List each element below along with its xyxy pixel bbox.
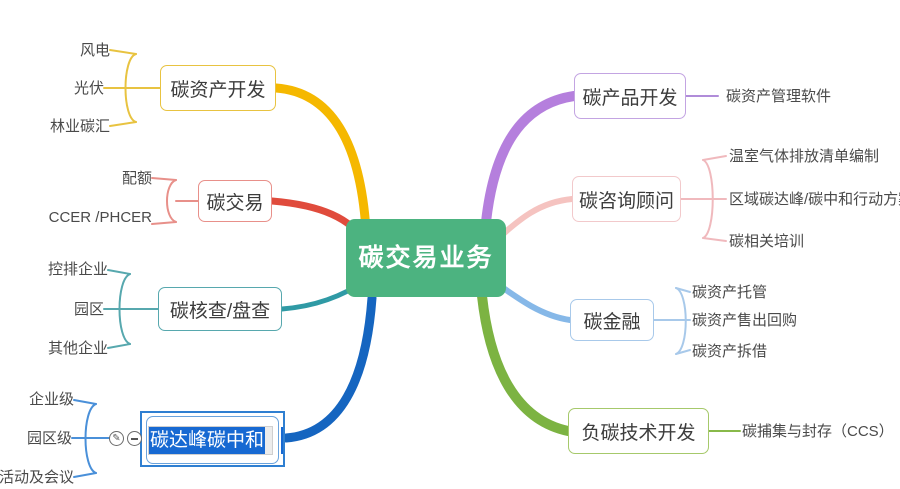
- node-label: 碳交易: [207, 188, 264, 215]
- node-carbon-asset-development[interactable]: 碳资产开发: [160, 65, 276, 111]
- node-label: 碳咨询顾问: [579, 186, 674, 213]
- node-carbon-consulting[interactable]: 碳咨询顾问: [572, 176, 681, 222]
- node-label: 碳核查/盘查: [170, 296, 270, 323]
- collapse-minus-icon[interactable]: [127, 431, 142, 446]
- brace-carbon-verification: [120, 274, 131, 344]
- leaf-carbon-verification-1[interactable]: 园区: [74, 302, 104, 317]
- node-carbon-trading[interactable]: 碳交易: [198, 180, 272, 222]
- note-icon[interactable]: ✎: [109, 431, 124, 446]
- stub-leaf-kongpai: [108, 270, 130, 274]
- leaf-carbon-consulting-1[interactable]: 区域碳达峰/碳中和行动方案: [729, 192, 900, 207]
- leaf-carbon-finance-2[interactable]: 碳资产拆借: [692, 344, 767, 359]
- node-label: 负碳技术开发: [581, 418, 695, 445]
- stub-leaf-ccer: [152, 222, 176, 224]
- brace-carbon-asset-development: [126, 54, 137, 122]
- trunk-carbon-product-development: [486, 96, 574, 222]
- brace-carbon-finance: [676, 288, 686, 354]
- stub-leaf-qiyeji: [74, 400, 96, 404]
- node-label: 碳产品开发: [583, 83, 678, 110]
- brace-carbon-peak-neutrality: [86, 404, 97, 473]
- node-carbon-verification[interactable]: 碳核查/盘查: [158, 287, 282, 331]
- trunk-carbon-asset-development: [276, 88, 366, 230]
- leaf-carbon-peak-neutrality-2[interactable]: 大型活动及会议: [0, 470, 74, 485]
- leaf-carbon-peak-neutrality-1[interactable]: 园区级: [27, 431, 72, 446]
- leaf-carbon-peak-neutrality-0[interactable]: 企业级: [29, 392, 74, 407]
- stub-leaf-fengdian: [110, 50, 136, 54]
- text-caret: [281, 427, 283, 454]
- stub-leaf-linye: [110, 122, 136, 126]
- leaf-carbon-consulting-2[interactable]: 碳相关培训: [729, 234, 804, 249]
- trunk-carbon-peak-neutrality: [286, 298, 372, 438]
- leaf-carbon-verification-2[interactable]: 其他企业: [48, 341, 108, 356]
- center-node[interactable]: 碳交易业务: [346, 219, 506, 297]
- node-label: 碳金融: [583, 307, 640, 334]
- leaf-carbon-trading-0[interactable]: 配额: [122, 171, 152, 186]
- leaf-carbon-finance-1[interactable]: 碳资产售出回购: [692, 313, 797, 328]
- minus-bar: [131, 438, 138, 440]
- leaf-negative-carbon-tech-0[interactable]: 碳捕集与封存（CCS）: [742, 424, 894, 439]
- leaf-carbon-asset-development-2[interactable]: 林业碳汇: [50, 119, 110, 134]
- stub-leaf-asset-custody: [676, 288, 690, 292]
- stub-leaf-peie: [152, 178, 176, 180]
- stub-leaf-asset-lending: [676, 350, 690, 354]
- stub-leaf-training: [703, 238, 726, 241]
- node-carbon-peak-neutrality-editing[interactable]: 碳达峰碳中和: [140, 411, 285, 467]
- trunk-negative-carbon-tech: [482, 296, 568, 431]
- leaf-carbon-consulting-0[interactable]: 温室气体排放清单编制: [729, 149, 879, 164]
- stub-leaf-ghg-inventory: [703, 156, 726, 160]
- leaf-carbon-finance-0[interactable]: 碳资产托管: [692, 285, 767, 300]
- leaf-carbon-product-development-0[interactable]: 碳资产管理软件: [726, 89, 831, 104]
- brace-carbon-consulting: [703, 160, 713, 238]
- leaf-carbon-verification-0[interactable]: 控排企业: [48, 262, 108, 277]
- mindmap-canvas: 碳交易业务 碳资产开发 碳交易 碳核查/盘查 碳达峰碳中和 ✎ 碳产品开发 碳咨…: [0, 0, 900, 489]
- note-icon-glyph: ✎: [110, 432, 123, 445]
- leaf-carbon-trading-1[interactable]: CCER /PHCER: [49, 210, 152, 225]
- node-label: 碳资产开发: [171, 75, 266, 102]
- node-negative-carbon-tech[interactable]: 负碳技术开发: [568, 408, 709, 454]
- stub-leaf-dahuodong: [74, 473, 96, 477]
- node-carbon-finance[interactable]: 碳金融: [570, 299, 654, 341]
- stub-leaf-qita: [108, 344, 130, 348]
- leaf-carbon-asset-development-0[interactable]: 风电: [80, 43, 110, 58]
- node-carbon-product-development[interactable]: 碳产品开发: [574, 73, 686, 119]
- edit-selected-text[interactable]: 碳达峰碳中和: [149, 427, 265, 454]
- brace-carbon-trading: [167, 180, 176, 222]
- leaf-carbon-asset-development-1[interactable]: 光伏: [74, 81, 104, 96]
- center-node-label: 碳交易业务: [358, 246, 493, 271]
